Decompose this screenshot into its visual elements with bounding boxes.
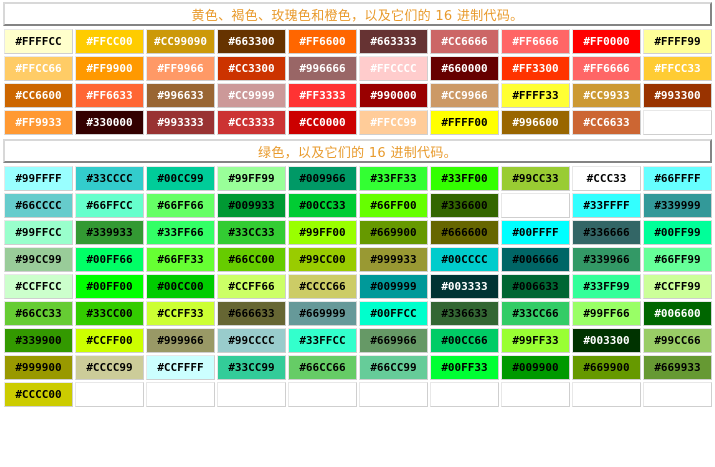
color-swatch-cell[interactable]: #999933 bbox=[359, 247, 428, 272]
color-swatch-cell[interactable]: #00CCCC bbox=[430, 247, 499, 272]
color-swatch-cell[interactable]: #66FF33 bbox=[146, 247, 215, 272]
color-swatch-cell[interactable]: #CC6600 bbox=[4, 83, 73, 108]
color-swatch-cell[interactable]: #99FF99 bbox=[217, 166, 286, 191]
swatch-row: #FFFFCC#FFCC00#CC99090#663300#FF6600#663… bbox=[4, 29, 712, 54]
color-swatch-cell[interactable]: #FFFF33 bbox=[501, 83, 570, 108]
color-swatch-cell[interactable]: #66FF99 bbox=[643, 247, 712, 272]
color-swatch-cell[interactable]: #99FFFF bbox=[4, 166, 73, 191]
color-swatch-cell[interactable]: #FFCC66 bbox=[4, 56, 73, 81]
color-swatch-cell[interactable]: #006633 bbox=[501, 274, 570, 299]
color-swatch-cell[interactable]: #CCFF99 bbox=[643, 274, 712, 299]
empty-swatch-cell bbox=[430, 382, 499, 407]
color-swatch-cell[interactable]: #33CC66 bbox=[501, 301, 570, 326]
color-swatch-cell[interactable]: #FF6600 bbox=[288, 29, 357, 54]
color-swatch-cell[interactable]: #996666 bbox=[288, 56, 357, 81]
color-swatch-cell[interactable]: #99FFCC bbox=[4, 220, 73, 245]
swatch-row: #99CC99#00FF66#66FF33#66CC00#99CC00#9999… bbox=[4, 247, 712, 272]
color-swatch-cell[interactable]: #FFCC33 bbox=[643, 56, 712, 81]
color-swatch-cell[interactable]: #66FFFF bbox=[643, 166, 712, 191]
color-swatch-cell[interactable]: #003333 bbox=[430, 274, 499, 299]
color-swatch-cell[interactable]: #00CC33 bbox=[288, 193, 357, 218]
swatch-row: #CC6600#FF6633#996633#CC9999#FF3333#9900… bbox=[4, 83, 712, 108]
color-swatch-cell[interactable]: #CCFF33 bbox=[146, 301, 215, 326]
color-swatch-cell[interactable]: #66CC33 bbox=[4, 301, 73, 326]
color-swatch-cell[interactable]: #669900 bbox=[572, 355, 641, 380]
color-swatch-cell[interactable]: #CC0000 bbox=[288, 110, 357, 135]
section-green-colors: 绿色，以及它们的 16 进制代码。 #99FFFF#33CCCC#00CC99#… bbox=[0, 139, 715, 409]
color-swatch-cell[interactable]: #99CC33 bbox=[501, 166, 570, 191]
color-swatch-cell[interactable]: #FF0000 bbox=[572, 29, 641, 54]
color-swatch-cell[interactable]: #FF9966 bbox=[146, 56, 215, 81]
swatch-row: #CCFFCC#00FF00#00CC00#CCFF66#CCCC66#0099… bbox=[4, 274, 712, 299]
color-swatch-cell[interactable]: #33CC33 bbox=[217, 220, 286, 245]
swatch-row: #FFCC66#FF9900#FF9966#CC3300#996666#FFCC… bbox=[4, 56, 712, 81]
color-swatch-cell[interactable]: #00FF66 bbox=[75, 247, 144, 272]
swatch-row: #339900#CCFF00#999966#99CCCC#33FFCC#6699… bbox=[4, 328, 712, 353]
color-swatch-cell[interactable]: #CCC33 bbox=[572, 166, 641, 191]
color-swatch-cell[interactable]: #669999 bbox=[288, 301, 357, 326]
color-swatch-cell[interactable]: #666600 bbox=[430, 220, 499, 245]
color-swatch-cell[interactable]: #CC6666 bbox=[430, 29, 499, 54]
color-swatch-cell[interactable]: #00CC66 bbox=[430, 328, 499, 353]
color-swatch-cell[interactable]: #CCFF66 bbox=[217, 274, 286, 299]
color-swatch-cell[interactable]: #009966 bbox=[288, 166, 357, 191]
swatch-row: #FF9933#330000#993333#CC3333#CC0000#FFCC… bbox=[4, 110, 712, 135]
color-swatch-cell[interactable]: #66FFCC bbox=[75, 193, 144, 218]
empty-swatch-cell bbox=[217, 382, 286, 407]
warm-colors-table: #FFFFCC#FFCC00#CC99090#663300#FF6600#663… bbox=[2, 27, 714, 137]
color-swatch-cell[interactable]: #FF6666 bbox=[501, 29, 570, 54]
color-swatch-cell[interactable]: #99CC99 bbox=[4, 247, 73, 272]
color-swatch-cell[interactable]: #336666 bbox=[572, 220, 641, 245]
color-swatch-cell[interactable]: #339900 bbox=[4, 328, 73, 353]
color-swatch-cell[interactable]: #660000 bbox=[430, 56, 499, 81]
color-swatch-cell[interactable]: #33CC99 bbox=[217, 355, 286, 380]
color-swatch-cell[interactable]: #CCFF00 bbox=[75, 328, 144, 353]
color-swatch-cell[interactable]: #33FF00 bbox=[430, 166, 499, 191]
color-swatch-cell[interactable]: #009933 bbox=[217, 193, 286, 218]
empty-swatch-cell bbox=[75, 382, 144, 407]
green-colors-table-body: #99FFFF#33CCCC#00CC99#99FF99#009966#33FF… bbox=[4, 166, 712, 407]
color-swatch-cell[interactable]: #330000 bbox=[75, 110, 144, 135]
swatch-row: #99FFCC#339933#33FF66#33CC33#99FF00#6699… bbox=[4, 220, 712, 245]
empty-swatch-cell bbox=[572, 382, 641, 407]
color-swatch-cell[interactable]: #FF6666 bbox=[572, 56, 641, 81]
color-swatch-cell[interactable]: #993333 bbox=[146, 110, 215, 135]
green-colors-table: #99FFFF#33CCCC#00CC99#99FF99#009966#33FF… bbox=[2, 164, 714, 409]
swatch-row: #66CCCC#66FFCC#66FF66#009933#00CC33#66FF… bbox=[4, 193, 712, 218]
color-swatch-cell[interactable]: #999966 bbox=[146, 328, 215, 353]
warm-colors-table-body: #FFFFCC#FFCC00#CC99090#663300#FF6600#663… bbox=[4, 29, 712, 135]
color-swatch-cell[interactable]: #669900 bbox=[359, 220, 428, 245]
color-swatch-cell[interactable]: #CC9999 bbox=[217, 83, 286, 108]
color-swatch-cell[interactable]: #00FF00 bbox=[75, 274, 144, 299]
color-swatch-cell[interactable]: #990000 bbox=[359, 83, 428, 108]
color-swatch-cell[interactable]: #33CCCC bbox=[75, 166, 144, 191]
color-swatch-cell[interactable]: #CC3300 bbox=[217, 56, 286, 81]
color-swatch-cell[interactable]: #CCCC00 bbox=[4, 382, 73, 407]
color-swatch-cell[interactable]: #00CC99 bbox=[146, 166, 215, 191]
empty-swatch-cell bbox=[359, 382, 428, 407]
color-swatch-cell[interactable]: #33CC00 bbox=[75, 301, 144, 326]
color-swatch-cell[interactable]: #33FF33 bbox=[359, 166, 428, 191]
empty-swatch-cell bbox=[643, 110, 712, 135]
color-swatch-cell[interactable]: #009999 bbox=[359, 274, 428, 299]
color-swatch-cell[interactable]: #33FFCC bbox=[288, 328, 357, 353]
color-swatch-cell[interactable]: #CC9933 bbox=[572, 83, 641, 108]
color-swatch-cell[interactable]: #006666 bbox=[501, 247, 570, 272]
color-swatch-cell[interactable]: #FFCC99 bbox=[359, 110, 428, 135]
color-swatch-cell[interactable]: #FF3333 bbox=[288, 83, 357, 108]
color-swatch-cell[interactable]: #669933 bbox=[643, 355, 712, 380]
color-swatch-cell[interactable]: #FFFF00 bbox=[430, 110, 499, 135]
color-swatch-cell[interactable]: #663300 bbox=[217, 29, 286, 54]
color-swatch-cell[interactable]: #FFCC00 bbox=[75, 29, 144, 54]
color-swatch-cell[interactable]: #996600 bbox=[501, 110, 570, 135]
color-swatch-cell[interactable]: #996633 bbox=[146, 83, 215, 108]
color-swatch-cell[interactable]: #CC6633 bbox=[572, 110, 641, 135]
color-swatch-cell[interactable]: #FF9900 bbox=[75, 56, 144, 81]
color-swatch-cell[interactable]: #999900 bbox=[4, 355, 73, 380]
color-swatch-cell[interactable]: #FF3300 bbox=[501, 56, 570, 81]
warm-colors-caption: 黄色、褐色、玫瑰色和橙色，以及它们的 16 进制代码。 bbox=[192, 9, 524, 24]
empty-swatch-cell bbox=[643, 382, 712, 407]
color-swatch-cell[interactable]: #CCFFFF bbox=[146, 355, 215, 380]
empty-swatch-cell bbox=[146, 382, 215, 407]
green-colors-caption-bar: 绿色，以及它们的 16 进制代码。 bbox=[3, 139, 712, 163]
color-swatch-cell[interactable]: #669966 bbox=[359, 328, 428, 353]
color-swatch-cell[interactable]: #33FF99 bbox=[572, 274, 641, 299]
empty-swatch-cell bbox=[501, 382, 570, 407]
green-colors-caption: 绿色，以及它们的 16 进制代码。 bbox=[258, 146, 457, 161]
color-swatch-cell[interactable]: #FF9933 bbox=[4, 110, 73, 135]
color-swatch-cell[interactable]: #99FF66 bbox=[572, 301, 641, 326]
color-swatch-cell[interactable]: #99CC66 bbox=[643, 328, 712, 353]
color-swatch-cell[interactable]: #FFFFCC bbox=[4, 29, 73, 54]
color-swatch-cell[interactable]: #FF6633 bbox=[75, 83, 144, 108]
color-swatch-cell[interactable]: #FFCCCC bbox=[359, 56, 428, 81]
color-swatch-cell[interactable]: #99FF00 bbox=[288, 220, 357, 245]
color-swatch-cell[interactable]: #CCCC99 bbox=[75, 355, 144, 380]
color-swatch-cell[interactable]: #33FFFF bbox=[572, 193, 641, 218]
color-swatch-cell[interactable]: #CC9966 bbox=[430, 83, 499, 108]
color-swatch-cell[interactable]: #666633 bbox=[217, 301, 286, 326]
color-swatch-cell[interactable]: #33FF66 bbox=[146, 220, 215, 245]
color-swatch-cell[interactable]: #336633 bbox=[430, 301, 499, 326]
color-swatch-cell[interactable]: #339933 bbox=[75, 220, 144, 245]
color-swatch-cell[interactable]: #336600 bbox=[430, 193, 499, 218]
color-swatch-cell[interactable]: #66FF00 bbox=[359, 193, 428, 218]
swatch-row: #999900#CCCC99#CCFFFF#33CC99#66CC66#66CC… bbox=[4, 355, 712, 380]
color-swatch-cell[interactable]: #003300 bbox=[572, 328, 641, 353]
color-swatch-cell[interactable]: #00FFCC bbox=[359, 301, 428, 326]
color-swatch-cell[interactable]: #006600 bbox=[643, 301, 712, 326]
section-warm-colors: 黄色、褐色、玫瑰色和橙色，以及它们的 16 进制代码。 #FFFFCC#FFCC… bbox=[0, 2, 715, 137]
color-swatch-cell[interactable]: #66CC00 bbox=[217, 247, 286, 272]
color-swatch-cell[interactable]: #993300 bbox=[643, 83, 712, 108]
warm-colors-caption-bar: 黄色、褐色、玫瑰色和橙色，以及它们的 16 进制代码。 bbox=[3, 2, 712, 26]
color-swatch-cell[interactable]: #66CC99 bbox=[359, 355, 428, 380]
empty-swatch-cell bbox=[288, 382, 357, 407]
color-swatch-cell[interactable]: #CC99090 bbox=[146, 29, 215, 54]
color-reference-page: 黄色、褐色、玫瑰色和橙色，以及它们的 16 进制代码。 #FFFFCC#FFCC… bbox=[0, 0, 715, 467]
color-swatch-cell[interactable]: #66FF66 bbox=[146, 193, 215, 218]
swatch-row: #CCCC00 bbox=[4, 382, 712, 407]
color-swatch-cell[interactable]: #00CC00 bbox=[146, 274, 215, 299]
color-swatch-cell[interactable]: #00FFFF bbox=[501, 220, 570, 245]
color-swatch-cell[interactable]: #009900 bbox=[501, 355, 570, 380]
empty-swatch-cell bbox=[501, 193, 570, 218]
swatch-row: #66CC33#33CC00#CCFF33#666633#669999#00FF… bbox=[4, 301, 712, 326]
color-swatch-cell[interactable]: #00FF33 bbox=[430, 355, 499, 380]
color-swatch-cell[interactable]: #CCCC66 bbox=[288, 274, 357, 299]
swatch-row: #99FFFF#33CCCC#00CC99#99FF99#009966#33FF… bbox=[4, 166, 712, 191]
color-swatch-cell[interactable]: #CC3333 bbox=[217, 110, 286, 135]
color-swatch-cell[interactable]: #FFFF99 bbox=[643, 29, 712, 54]
color-swatch-cell[interactable]: #663333 bbox=[359, 29, 428, 54]
color-swatch-cell[interactable]: #339966 bbox=[572, 247, 641, 272]
color-swatch-cell[interactable]: #00FF99 bbox=[643, 220, 712, 245]
color-swatch-cell[interactable]: #99FF33 bbox=[501, 328, 570, 353]
color-swatch-cell[interactable]: #99CC00 bbox=[288, 247, 357, 272]
color-swatch-cell[interactable]: #99CCCC bbox=[217, 328, 286, 353]
color-swatch-cell[interactable]: #66CC66 bbox=[288, 355, 357, 380]
color-swatch-cell[interactable]: #CCFFCC bbox=[4, 274, 73, 299]
color-swatch-cell[interactable]: #339999 bbox=[643, 193, 712, 218]
color-swatch-cell[interactable]: #66CCCC bbox=[4, 193, 73, 218]
